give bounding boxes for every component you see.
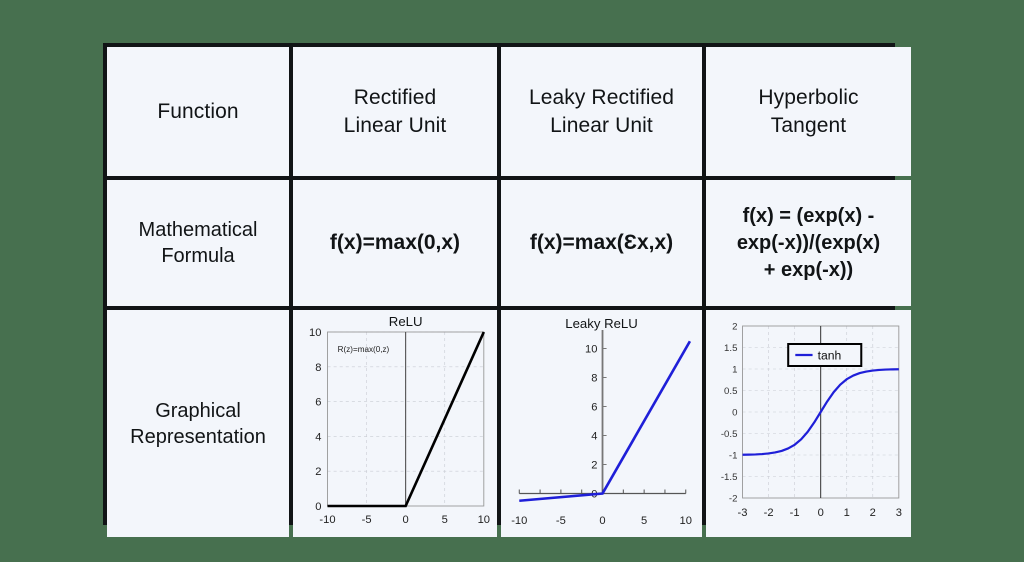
- svg-text:tanh: tanh: [818, 349, 842, 363]
- row-label-line1: Mathematical: [139, 217, 258, 243]
- chart-relu: ReLUR(z)=max(0,z)0246810-10-50510: [293, 310, 497, 537]
- svg-text:-1.5: -1.5: [721, 472, 738, 483]
- table-header-leaky-relu: Leaky Rectified Linear Unit: [501, 47, 702, 176]
- table-header-relu: Rectified Linear Unit: [293, 47, 497, 176]
- svg-text:-5: -5: [362, 514, 372, 526]
- row-label-graphical-representation: Graphical Representation: [107, 310, 289, 537]
- screenshot-root: Function Rectified Linear Unit Leaky Rec…: [0, 0, 1024, 562]
- svg-text:0: 0: [315, 501, 321, 513]
- svg-text:-2: -2: [764, 507, 774, 519]
- header-leaky-line1: Leaky Rectified: [529, 84, 674, 111]
- svg-text:1: 1: [844, 507, 850, 519]
- svg-text:10: 10: [680, 515, 692, 527]
- svg-text:4: 4: [315, 431, 321, 443]
- formula-tanh-line3: + exp(-x)): [737, 257, 880, 284]
- svg-text:0: 0: [403, 514, 409, 526]
- row-label-line2: Formula: [139, 243, 258, 269]
- svg-text:8: 8: [591, 373, 597, 385]
- relu-plot: ReLUR(z)=max(0,z)0246810-10-50510: [293, 310, 497, 537]
- svg-text:2: 2: [870, 507, 876, 519]
- svg-text:3: 3: [896, 507, 902, 519]
- tanh-plot: -2-1.5-1-0.500.511.52-3-2-10123tanh: [706, 310, 911, 537]
- svg-text:2: 2: [315, 466, 321, 478]
- header-relu-line2: Linear Unit: [344, 112, 447, 139]
- activation-functions-table: Function Rectified Linear Unit Leaky Rec…: [103, 43, 895, 525]
- svg-text:R(z)=max(0,z): R(z)=max(0,z): [338, 345, 390, 354]
- svg-text:Leaky ReLU: Leaky ReLU: [565, 316, 638, 331]
- svg-text:4: 4: [591, 431, 597, 443]
- svg-text:0.5: 0.5: [724, 386, 737, 397]
- svg-text:1.5: 1.5: [724, 343, 737, 354]
- svg-text:5: 5: [641, 515, 647, 527]
- formula-tanh: f(x) = (exp(x) - exp(-x))/(exp(x) + exp(…: [706, 180, 911, 306]
- header-leaky-line2: Linear Unit: [529, 112, 674, 139]
- svg-text:-1: -1: [729, 451, 738, 462]
- svg-text:-0.5: -0.5: [721, 429, 738, 440]
- header-tanh-line1: Hyperbolic: [758, 84, 858, 111]
- svg-text:-5: -5: [556, 515, 566, 527]
- formula-relu: f(x)=max(0,x): [293, 180, 497, 306]
- header-tanh-line2: Tangent: [758, 112, 858, 139]
- svg-text:6: 6: [591, 402, 597, 414]
- formula-relu-text: f(x)=max(0,x): [330, 229, 460, 257]
- svg-text:6: 6: [315, 397, 321, 409]
- svg-text:-10: -10: [511, 515, 527, 527]
- svg-text:5: 5: [442, 514, 448, 526]
- svg-text:2: 2: [591, 460, 597, 472]
- svg-text:-10: -10: [319, 514, 335, 526]
- svg-text:2: 2: [732, 322, 737, 333]
- formula-tanh-line2: exp(-x))/(exp(x): [737, 230, 880, 257]
- chart-tanh: -2-1.5-1-0.500.511.52-3-2-10123tanh: [706, 310, 911, 537]
- svg-text:0: 0: [818, 507, 824, 519]
- svg-text:0: 0: [732, 408, 737, 419]
- svg-text:1: 1: [732, 365, 737, 376]
- leaky-relu-plot: Leaky ReLU0246810-10-50510: [501, 310, 702, 537]
- header-label-function: Function: [157, 98, 238, 125]
- formula-leaky-relu: f(x)=max(Ɛx,x): [501, 180, 702, 306]
- svg-text:0: 0: [599, 515, 605, 527]
- svg-text:10: 10: [478, 514, 490, 526]
- svg-text:-3: -3: [738, 507, 748, 519]
- svg-text:10: 10: [309, 327, 321, 339]
- chart-leaky-relu: Leaky ReLU0246810-10-50510: [501, 310, 702, 537]
- formula-leaky-relu-text: f(x)=max(Ɛx,x): [530, 229, 673, 257]
- formula-tanh-line1: f(x) = (exp(x) -: [737, 203, 880, 230]
- row-label-graph-line1: Graphical: [130, 398, 266, 424]
- svg-text:10: 10: [585, 344, 597, 356]
- row-label-graph-line2: Representation: [130, 424, 266, 450]
- svg-text:ReLU: ReLU: [389, 314, 423, 329]
- row-label-mathematical-formula: Mathematical Formula: [107, 180, 289, 306]
- table-header-function: Function: [107, 47, 289, 176]
- svg-text:-2: -2: [729, 494, 738, 505]
- svg-text:-1: -1: [790, 507, 800, 519]
- table-header-tanh: Hyperbolic Tangent: [706, 47, 911, 176]
- header-relu-line1: Rectified: [344, 84, 447, 111]
- svg-text:8: 8: [315, 362, 321, 374]
